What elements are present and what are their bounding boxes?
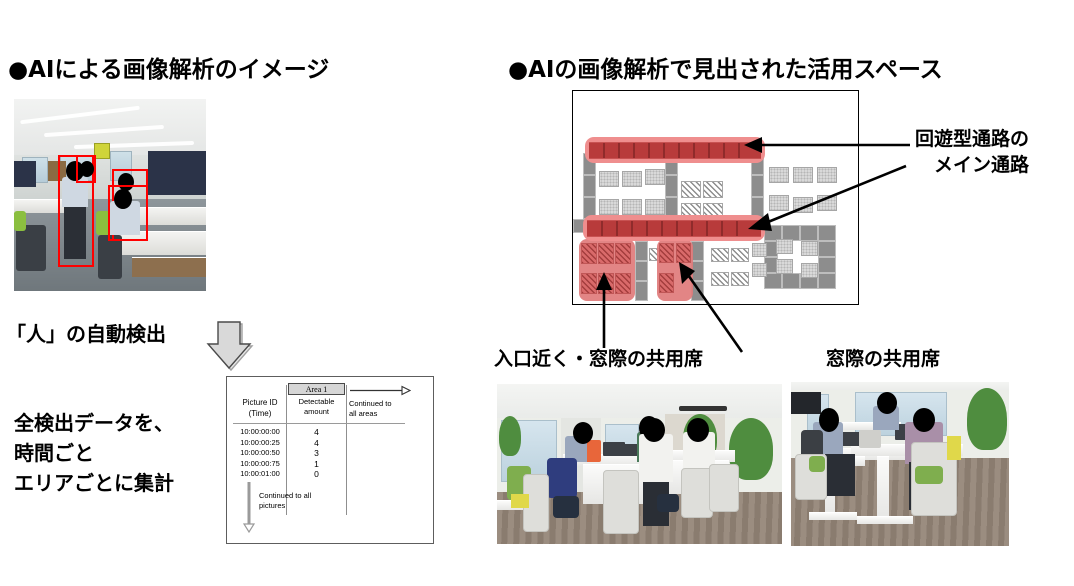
table-area-header: Area 1 bbox=[288, 383, 345, 395]
table-vertical-rule bbox=[346, 385, 347, 515]
table-row-amount: 4 bbox=[288, 427, 345, 438]
table-row-amount: 1 bbox=[288, 459, 345, 470]
photo-backpack bbox=[553, 496, 579, 518]
photo-chair-seat bbox=[809, 456, 825, 472]
photo-person-head-masked bbox=[643, 418, 665, 442]
photo-monitor bbox=[791, 392, 821, 414]
floorplan-desk-hatched bbox=[703, 181, 723, 198]
photo-backpack bbox=[657, 494, 679, 512]
photo-desk-leg bbox=[877, 456, 889, 520]
detection-box bbox=[108, 185, 148, 241]
corridor-lower bbox=[587, 220, 761, 237]
floorplan-block bbox=[818, 241, 836, 257]
table-row-time: 10:00:00:75 bbox=[233, 459, 287, 470]
photo-bin bbox=[511, 494, 529, 508]
table-col-detectable-amount: Detectable amount bbox=[288, 397, 345, 417]
table-time-column: 10:00:00:0010:00:00:2510:00:00:5010:00:0… bbox=[233, 427, 287, 480]
label-main-corridor: 回遊型通路の メイン通路 bbox=[915, 126, 1029, 178]
table-header-rule bbox=[233, 423, 405, 424]
floorplan-block bbox=[782, 273, 800, 289]
gray-down-arrow-icon bbox=[196, 318, 254, 372]
detection-box bbox=[76, 155, 96, 183]
photo-person-head-masked bbox=[573, 422, 593, 444]
floorplan-shared-seat bbox=[659, 273, 674, 293]
table-row-amount: 3 bbox=[288, 448, 345, 459]
floorplan-desk bbox=[622, 171, 642, 187]
arrow-right-icon bbox=[349, 385, 411, 396]
photo-bag-yellow bbox=[947, 436, 961, 460]
heading-right-text: ●AIの画像解析で見出された活用スペース bbox=[508, 57, 943, 83]
photo-chair bbox=[709, 464, 739, 512]
office-floorplan-diagram bbox=[572, 90, 859, 305]
floorplan-block bbox=[635, 261, 648, 281]
floorplan-shared-seat bbox=[598, 273, 614, 294]
floorplan-desk-hatched bbox=[711, 272, 729, 286]
floorplan-block bbox=[583, 175, 596, 197]
photo-desk bbox=[140, 207, 206, 225]
photo-track-light bbox=[679, 406, 727, 411]
photo-plant bbox=[967, 388, 1007, 450]
floorplan-shared-seat bbox=[581, 273, 597, 294]
photo-desk-wood bbox=[132, 257, 206, 277]
floorplan-desk bbox=[752, 243, 767, 257]
floorplan-desk bbox=[801, 263, 818, 278]
floorplan-desk bbox=[599, 171, 619, 187]
table-note-all-areas: Continued to all areas bbox=[349, 399, 409, 419]
photo-desk-base bbox=[809, 512, 857, 520]
floorplan-shared-seat bbox=[659, 243, 674, 263]
floorplan-block bbox=[818, 257, 836, 273]
photo-chair-green bbox=[14, 211, 26, 231]
entrance-shared-seats-photo bbox=[497, 384, 782, 544]
photo-plant bbox=[499, 416, 521, 456]
emergency-sign bbox=[94, 143, 110, 159]
floorplan-block bbox=[635, 281, 648, 301]
arrow-down-icon bbox=[243, 481, 255, 533]
photo-phone bbox=[859, 430, 881, 448]
caption-aggregate-data: 全検出データを、 時間ごと エリアごとに集計 bbox=[14, 408, 174, 498]
table-row-amount: 4 bbox=[288, 438, 345, 449]
page-title-right: ●AIの画像解析で見出された活用スペース bbox=[508, 50, 943, 84]
photo-person-head-masked bbox=[877, 392, 897, 414]
photo-chair bbox=[98, 235, 122, 279]
photo-person-head-masked bbox=[913, 408, 935, 432]
floorplan-desk-hatched bbox=[731, 248, 749, 262]
floorplan-desk bbox=[776, 259, 793, 274]
table-row-time: 10:00:00:00 bbox=[233, 427, 287, 438]
office-detection-photo bbox=[14, 99, 206, 291]
floorplan-desk bbox=[776, 239, 793, 254]
detection-data-table: Area 1 Picture ID (Time) Detectable amou… bbox=[226, 376, 434, 544]
floorplan-block bbox=[818, 225, 836, 241]
floorplan-desk bbox=[599, 199, 619, 215]
caption-auto-detection: 「人」の自動検出 bbox=[6, 318, 166, 347]
photo-chair bbox=[547, 458, 577, 498]
floorplan-shared-seat bbox=[615, 243, 631, 264]
photo-desk-base bbox=[857, 516, 913, 524]
floorplan-shared-seat bbox=[598, 243, 614, 264]
photo-partition bbox=[14, 161, 36, 187]
table-col-picture-id: Picture ID (Time) bbox=[233, 397, 287, 419]
floorplan-shared-seat bbox=[676, 243, 691, 263]
photo-chair bbox=[16, 225, 46, 271]
floorplan-shared-seat bbox=[581, 243, 597, 264]
table-row-time: 10:00:01:00 bbox=[233, 469, 287, 480]
photo-chair bbox=[603, 470, 639, 534]
floorplan-desk bbox=[769, 167, 789, 183]
floorplan-desk bbox=[801, 241, 818, 256]
floorplan-desk-hatched bbox=[731, 272, 749, 286]
floorplan-desk bbox=[752, 263, 767, 277]
photo-chair-seat bbox=[915, 466, 943, 484]
photo-partition bbox=[148, 151, 206, 195]
table-amount-column: 44310 bbox=[288, 427, 345, 480]
floorplan-desk bbox=[645, 199, 665, 215]
label-entrance-shared-seats: 入口近く・窓際の共用席 bbox=[494, 344, 703, 371]
window-shared-seats-photo bbox=[791, 382, 1009, 546]
label-window-shared-seats: 窓際の共用席 bbox=[826, 344, 940, 371]
floorplan-block bbox=[818, 273, 836, 289]
floorplan-desk bbox=[622, 199, 642, 215]
floorplan-block bbox=[665, 175, 678, 197]
floorplan-block bbox=[800, 225, 818, 241]
floorplan-desk-hatched bbox=[681, 181, 701, 198]
floorplan-desk bbox=[793, 167, 813, 183]
page-title-left: ●AIによる画像解析のイメージ bbox=[8, 50, 329, 84]
heading-left-text: ●AIによる画像解析のイメージ bbox=[8, 57, 329, 83]
floorplan-block bbox=[751, 175, 764, 197]
corridor-upper bbox=[589, 142, 761, 159]
floorplan-desk bbox=[769, 195, 789, 211]
floorplan-desk bbox=[645, 169, 665, 185]
photo-person-head-masked bbox=[687, 418, 709, 442]
floorplan-desk bbox=[793, 197, 813, 213]
photo-person-head-masked bbox=[819, 408, 839, 432]
floorplan-block bbox=[635, 241, 648, 261]
table-row-time: 10:00:00:25 bbox=[233, 438, 287, 449]
table-row-time: 10:00:00:50 bbox=[233, 448, 287, 459]
photo-person-pants bbox=[825, 454, 855, 496]
floorplan-shared-seat bbox=[615, 273, 631, 294]
table-note-all-pictures: Continued to all pictures bbox=[259, 491, 339, 511]
table-row-amount: 0 bbox=[288, 469, 345, 480]
floorplan-desk bbox=[817, 195, 837, 211]
floorplan-desk-hatched bbox=[711, 248, 729, 262]
floorplan-desk bbox=[817, 167, 837, 183]
